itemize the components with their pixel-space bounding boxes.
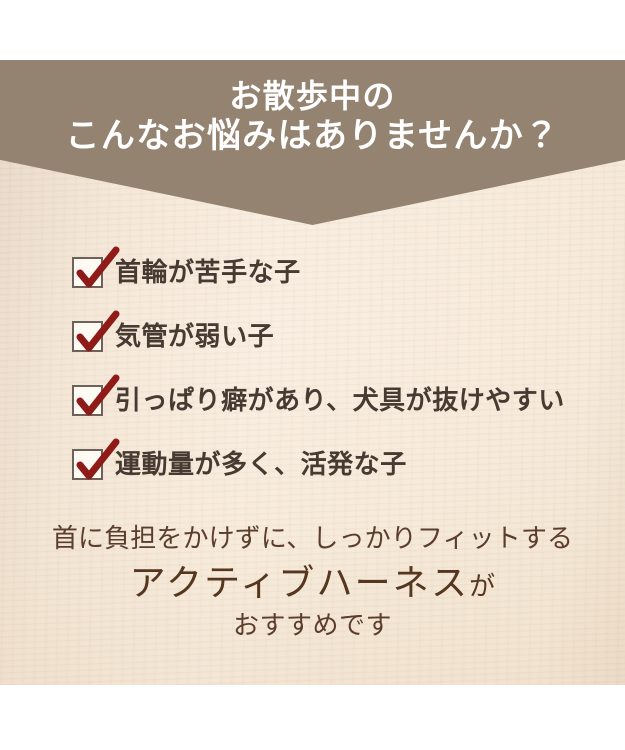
checkbox-icon[interactable] xyxy=(72,321,103,352)
list-item[interactable]: 気管が弱い子 xyxy=(0,304,625,368)
checkbox-icon[interactable] xyxy=(72,257,103,288)
promo-card: お散歩中の こんなお悩みはありませんか？ 首輪が苦手な子 気管が弱い子 xyxy=(0,0,625,750)
checkbox-icon[interactable] xyxy=(72,385,103,416)
banner-headline-line-2: こんなお悩みはありませんか？ xyxy=(0,116,625,156)
list-item-label: 運動量が多く、活発な子 xyxy=(115,451,407,477)
closing-line-1: 首に負担をかけずに、しっかりフィットする xyxy=(0,523,625,556)
banner-headline-line-1: お散歩中の xyxy=(0,78,625,116)
checklist: 首輪が苦手な子 気管が弱い子 引っぱり癖があり、犬具が抜けやすい xyxy=(0,240,625,496)
list-item[interactable]: 引っぱり癖があり、犬具が抜けやすい xyxy=(0,368,625,432)
product-name-emphasis: アクティブハーネス xyxy=(130,563,469,603)
list-item[interactable]: 運動量が多く、活発な子 xyxy=(0,432,625,496)
list-item-label: 引っぱり癖があり、犬具が抜けやすい xyxy=(115,387,565,413)
closing-line-2: アクティブハーネスが xyxy=(0,556,625,610)
list-item[interactable]: 首輪が苦手な子 xyxy=(0,240,625,304)
list-item-label: 首輪が苦手な子 xyxy=(115,259,301,285)
closing-copy: 首に負担をかけずに、しっかりフィットする アクティブハーネスが おすすめです xyxy=(0,523,625,642)
checkbox-icon[interactable] xyxy=(72,449,103,480)
list-item-label: 気管が弱い子 xyxy=(115,323,274,349)
closing-line-3: おすすめです xyxy=(0,610,625,643)
header-banner-text: お散歩中の こんなお悩みはありませんか？ xyxy=(0,60,625,156)
closing-line-2-particle: が xyxy=(469,572,495,601)
